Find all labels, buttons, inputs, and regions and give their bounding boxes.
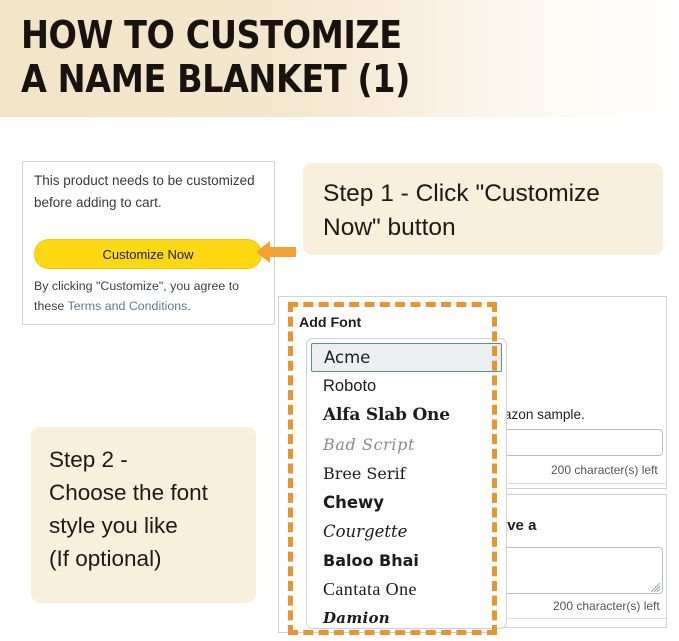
step-2-callout: Step 2 - Choose the font style you like … — [31, 427, 256, 603]
font-option-roboto[interactable]: Roboto — [307, 372, 506, 401]
font-option-acme[interactable]: Acme — [311, 343, 502, 372]
font-options-list[interactable]: AcmeRobotoAlfa Slab OneBad ScriptBree Se… — [306, 338, 507, 629]
font-option-damion[interactable]: Damion — [307, 604, 506, 629]
font-option-baloo-bhai[interactable]: Baloo Bhai — [307, 546, 506, 575]
font-option-courgette[interactable]: Courgette — [307, 517, 506, 546]
font-option-alfa-slab-one[interactable]: Alfa Slab One — [307, 401, 506, 430]
customize-now-label: Customize Now — [102, 247, 193, 262]
panel-a-chars-left: 200 character(s) left — [551, 463, 658, 477]
header-banner: HOW TO CUSTOMIZE A NAME BLANKET (1) — [0, 0, 679, 117]
terms-suffix-text: . — [187, 299, 190, 313]
screenshot-root: HOW TO CUSTOMIZE A NAME BLANKET (1) This… — [0, 0, 679, 641]
arrow-left-icon — [256, 239, 296, 265]
add-font-label: Add Font — [299, 315, 361, 331]
step-1-callout: Step 1 - Click "Customize Now" button — [303, 163, 663, 255]
page-title: HOW TO CUSTOMIZE A NAME BLANKET (1) — [21, 13, 410, 101]
font-option-chewy[interactable]: Chewy — [307, 488, 506, 517]
customize-required-note: This product needs to be customized befo… — [34, 170, 266, 213]
terms-disclaimer: By clicking "Customize", you agree to th… — [34, 276, 270, 316]
font-option-cantata-one[interactable]: Cantata One — [307, 575, 506, 604]
add-font-panel: Add Font AcmeRobotoAlfa Slab OneBad Scri… — [278, 296, 488, 633]
panel-b-chars-left: 200 character(s) left — [553, 599, 660, 613]
customize-now-button[interactable]: Customize Now — [34, 239, 262, 269]
resize-grip-icon[interactable] — [651, 583, 660, 592]
customize-product-card: This product needs to be customized befo… — [22, 161, 275, 325]
terms-and-conditions-link[interactable]: Terms and Conditions — [68, 299, 188, 313]
font-option-bree-serif[interactable]: Bree Serif — [307, 459, 506, 488]
font-option-bad-script[interactable]: Bad Script — [307, 430, 506, 459]
